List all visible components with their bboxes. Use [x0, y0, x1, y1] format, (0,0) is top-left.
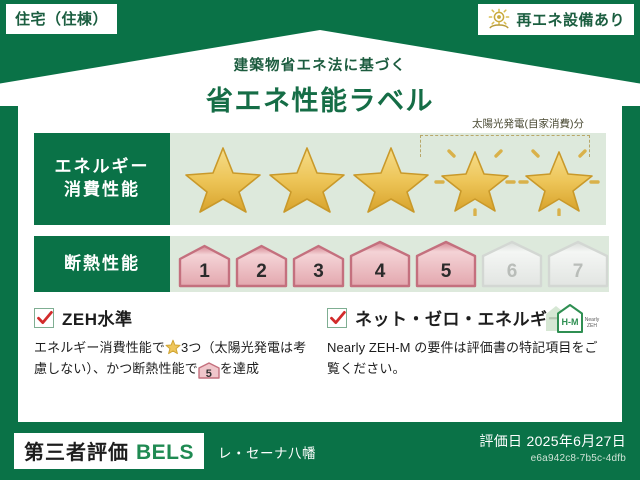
insulation-level-value: 7: [573, 261, 584, 283]
bels-en-label: BELS: [136, 441, 194, 465]
solar-bracket: [420, 135, 590, 157]
insulation-level-value: 4: [375, 261, 386, 283]
label-title: 建築物省エネ法に基づく 省エネ性能ラベル: [0, 54, 640, 118]
label-body: エネルギー 消費性能 太陽光発電(自家消費)分: [18, 100, 622, 422]
insulation-level-panel: 1 2 3: [170, 236, 609, 292]
insulation-label-text: 断熱性能: [64, 253, 140, 276]
bels-jp-label: 第三者評価: [24, 436, 129, 465]
solar-sun-icon: [487, 8, 511, 30]
insulation-level-badge-achieved: 5: [415, 240, 477, 288]
insulation-level-badge: 3: [292, 244, 345, 288]
energy-label-line2: 消費性能: [64, 179, 140, 202]
zeh-standard-description: エネルギー消費性能で3つ（太陽光発電は考慮しない）、かつ断熱性能で5を達成: [34, 337, 313, 379]
insulation-performance-label: 断熱性能: [34, 236, 170, 292]
building-name: レ・セーナ八幡: [218, 442, 316, 462]
zeh-desc-part3: を達成: [220, 361, 259, 376]
net-zero-energy-check: ネット・ゼロ・エネルギー H-M Nearly ZEH Nearly ZEH-M…: [327, 305, 606, 379]
energy-performance-label: エネルギー 消費性能: [34, 133, 170, 225]
zeh-desc-part1: エネルギー消費性能で: [34, 340, 165, 355]
insulation-level-badge: 1: [178, 244, 231, 288]
insulation-level-badge: 4: [349, 240, 411, 288]
insulation-level-value: 3: [313, 261, 324, 283]
building-type-label: 住宅（住棟）: [15, 8, 108, 29]
insulation-level-value: 1: [199, 261, 210, 283]
evaluation-id: e6a942c8-7b5c-4dfb: [531, 453, 626, 464]
insulation-badge-inline: 5: [198, 362, 220, 379]
renewable-energy-badge: 再エネ設備あり: [478, 4, 634, 35]
star-icon: [182, 142, 264, 216]
energy-performance-label: 住宅（住棟） 再エネ設備あり 建築物省エネ法に基づく 省エネ性能ラベル エネルギ…: [0, 0, 640, 480]
zeh-standard-header: ZEH水準: [34, 305, 313, 330]
net-zero-energy-title: ネット・ゼロ・エネルギー: [355, 305, 565, 330]
title-main: 省エネ性能ラベル: [0, 79, 640, 118]
insulation-level-value: 6: [507, 261, 518, 283]
insulation-level-badge-inactive: 7: [547, 240, 609, 288]
star-icon: [266, 142, 348, 216]
insulation-performance-row: 断熱性能: [34, 236, 606, 292]
zeh-m-logo-icon: H-M Nearly ZEH: [542, 301, 604, 335]
insulation-level-badge-inactive: 6: [481, 240, 543, 288]
checkmark-icon: [34, 308, 54, 328]
checkmark-icon: [327, 308, 347, 328]
insulation-level-value: 2: [256, 261, 267, 283]
insulation-level-value: 5: [441, 261, 452, 283]
insulation-level-badge: 2: [235, 244, 288, 288]
svg-text:H-M: H-M: [562, 317, 579, 327]
bels-badge: 第三者評価 BELS: [14, 433, 204, 469]
certification-checks: ZEH水準 エネルギー消費性能で3つ（太陽光発電は考慮しない）、かつ断熱性能で5…: [34, 305, 606, 379]
building-type-badge: 住宅（住棟）: [6, 4, 117, 34]
zeh-standard-check: ZEH水準 エネルギー消費性能で3つ（太陽光発電は考慮しない）、かつ断熱性能で5…: [34, 305, 313, 379]
energy-label-line1: エネルギー: [55, 156, 150, 179]
title-subtitle: 建築物省エネ法に基づく: [0, 54, 640, 75]
energy-performance-row: エネルギー 消費性能 太陽光発電(自家消費)分: [34, 133, 606, 225]
insulation-level-list: 1 2 3: [170, 240, 609, 288]
svg-text:ZEH: ZEH: [587, 323, 597, 329]
energy-star-panel: 太陽光発電(自家消費)分: [170, 133, 606, 225]
evaluation-date: 評価日 2025年6月27日: [479, 431, 626, 451]
star-icon: [165, 339, 181, 355]
insulation-badge-inline-value: 5: [206, 368, 212, 380]
solar-note-label: 太陽光発電(自家消費)分: [472, 116, 584, 131]
renewable-energy-label: 再エネ設備あり: [516, 9, 625, 30]
zeh-standard-title: ZEH水準: [62, 305, 133, 330]
net-zero-energy-description: Nearly ZEH-M の要件は評価書の特記項目をご覧ください。: [327, 337, 606, 379]
label-footer: 第三者評価 BELS レ・セーナ八幡 評価日 2025年6月27日 e6a942…: [0, 422, 640, 480]
